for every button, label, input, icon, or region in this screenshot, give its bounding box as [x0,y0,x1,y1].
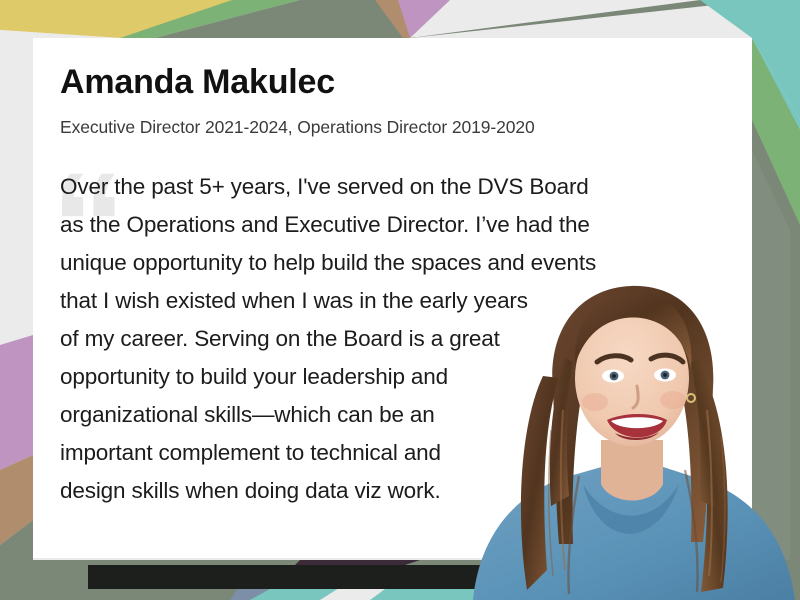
person-role: Executive Director 2021-2024, Operations… [60,117,722,138]
testimonial-card-screen: Amanda Makulec Executive Director 2021-2… [0,0,800,600]
testimonial-card: Amanda Makulec Executive Director 2021-2… [33,38,752,558]
person-name: Amanda Makulec [60,64,722,101]
quote-text: Over the past 5+ years, I've served on t… [60,168,725,510]
card-content: Amanda Makulec Executive Director 2021-2… [33,38,752,558]
card-drop-shadow-band [88,565,763,589]
